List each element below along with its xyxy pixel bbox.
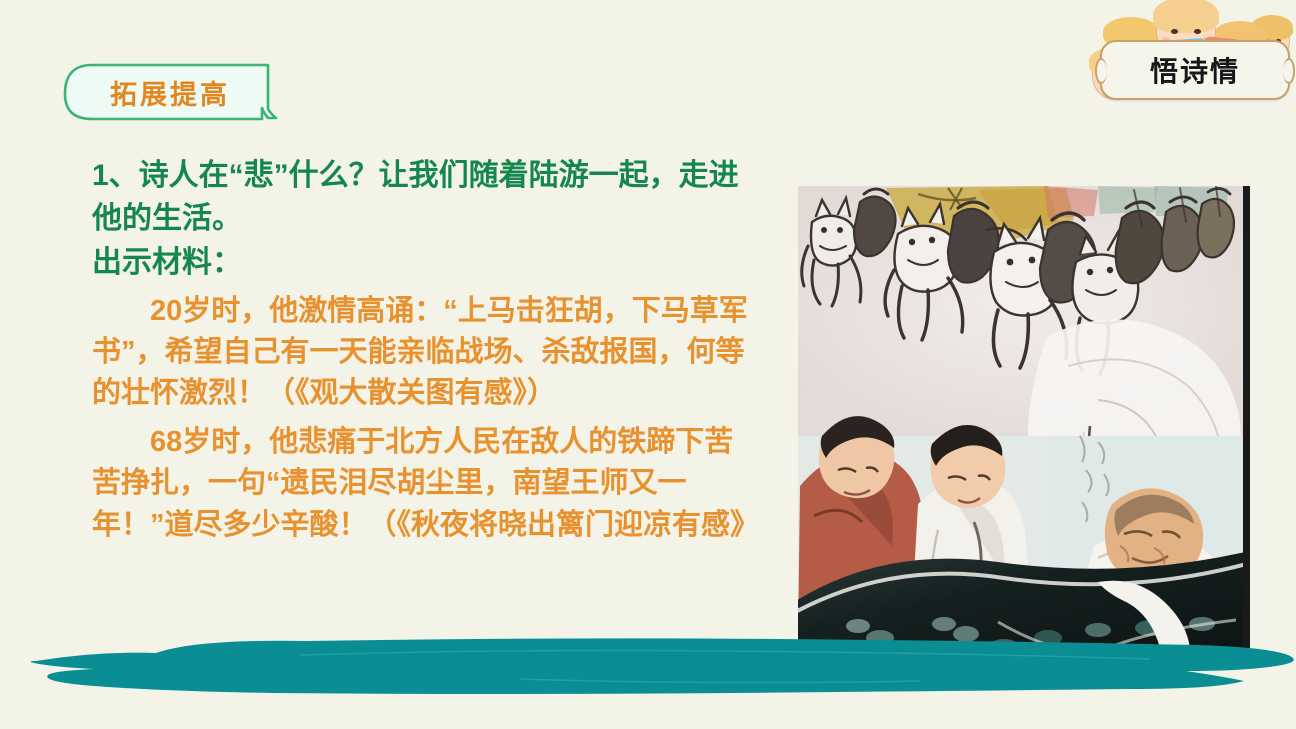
content-text-block: 1、诗人在“悲”什么？让我们随着陆游一起，走进他的生活。 出示材料： 20岁时，… bbox=[92, 155, 752, 550]
material-label: 出示材料： bbox=[92, 242, 752, 285]
question-line: 1、诗人在“悲”什么？让我们随着陆游一起，走进他的生活。 bbox=[92, 155, 752, 240]
badge-label: 悟诗情 bbox=[1150, 50, 1240, 90]
mascot-badge: 悟诗情 bbox=[1078, 0, 1290, 100]
paragraph-age-68: 68岁时，他悲痛于北方人民在敌人的铁蹄下苦苦挣扎，一句“遗民泪尽胡尘里，南望王师… bbox=[92, 422, 752, 546]
lu-you-deathbed-ink-painting bbox=[798, 186, 1243, 648]
section-tab: 拓展提高 bbox=[62, 62, 300, 122]
paragraph-age-20: 20岁时，他激情高诵：“上马击狂胡，下马草军书”，希望自己有一天能亲临战场、杀敌… bbox=[92, 291, 752, 415]
section-tab-label: 拓展提高 bbox=[110, 73, 230, 112]
badge-plate: 悟诗情 bbox=[1100, 40, 1290, 100]
bottom-teal-brush-stroke bbox=[0, 629, 1296, 701]
painting-image bbox=[798, 186, 1250, 648]
brush-stroke-shape bbox=[0, 629, 1296, 701]
